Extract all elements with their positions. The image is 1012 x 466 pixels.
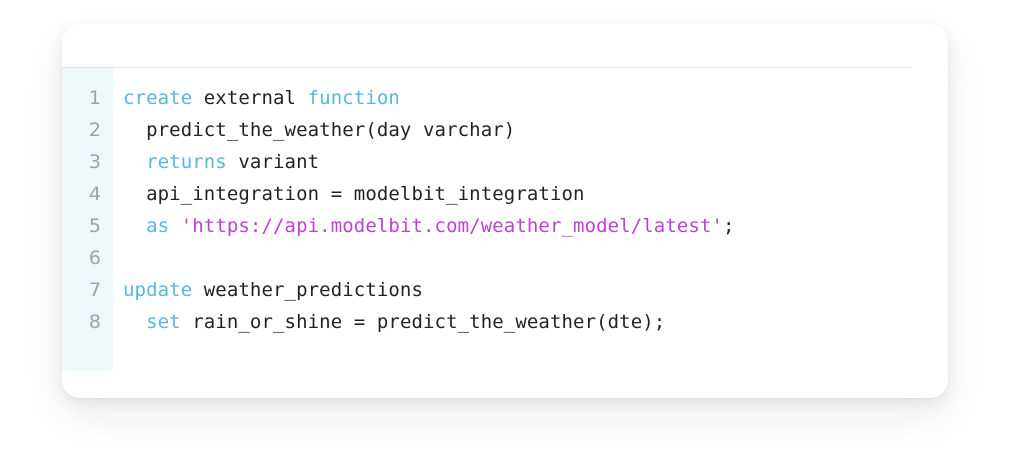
- code-token-plain: [123, 151, 146, 173]
- code-line[interactable]: [123, 242, 948, 274]
- code-token-plain: external: [192, 87, 307, 109]
- code-token-keyword: set: [146, 311, 181, 333]
- line-number: 7: [62, 274, 113, 306]
- code-token-plain: weather_predictions: [192, 279, 423, 301]
- code-token-plain: [123, 215, 146, 237]
- line-number: 6: [62, 242, 113, 274]
- code-token-string: 'https://api.modelbit.com/weather_model/…: [181, 215, 723, 237]
- code-token-keyword: returns: [146, 151, 227, 173]
- line-number: 3: [62, 146, 113, 178]
- code-line[interactable]: returns variant: [123, 146, 948, 178]
- page-root: 12345678 create external function predic…: [0, 0, 1012, 466]
- line-number: 4: [62, 178, 113, 210]
- code-token-keyword: function: [308, 87, 400, 109]
- code-token-punct: ;: [723, 215, 735, 237]
- code-line[interactable]: create external function: [123, 82, 948, 114]
- code-line[interactable]: set rain_or_shine = predict_the_weather(…: [123, 306, 948, 338]
- code-line[interactable]: predict_the_weather(day varchar): [123, 114, 948, 146]
- line-number: 8: [62, 306, 113, 338]
- code-content[interactable]: create external function predict_the_wea…: [113, 68, 948, 338]
- code-token-plain: variant: [227, 151, 319, 173]
- card-header-toolbar: [62, 24, 948, 67]
- code-token-keyword: create: [123, 87, 192, 109]
- sql-code-snippet-card: 12345678 create external function predic…: [62, 24, 948, 398]
- line-number: 2: [62, 114, 113, 146]
- code-token-plain: predict_the_weather(day varchar): [123, 119, 515, 141]
- line-number-gutter: 12345678: [62, 68, 113, 371]
- code-token-plain: [169, 215, 181, 237]
- code-token-plain: [123, 311, 146, 333]
- code-line[interactable]: update weather_predictions: [123, 274, 948, 306]
- code-line[interactable]: as 'https://api.modelbit.com/weather_mod…: [123, 210, 948, 242]
- line-number: 5: [62, 210, 113, 242]
- code-editor[interactable]: 12345678 create external function predic…: [62, 68, 948, 398]
- code-line[interactable]: api_integration = modelbit_integration: [123, 178, 948, 210]
- code-token-keyword: update: [123, 279, 192, 301]
- code-token-plain: api_integration = modelbit_integration: [123, 183, 585, 205]
- line-number: 1: [62, 82, 113, 114]
- code-token-keyword: as: [146, 215, 169, 237]
- code-token-plain: rain_or_shine = predict_the_weather(dte)…: [181, 311, 666, 333]
